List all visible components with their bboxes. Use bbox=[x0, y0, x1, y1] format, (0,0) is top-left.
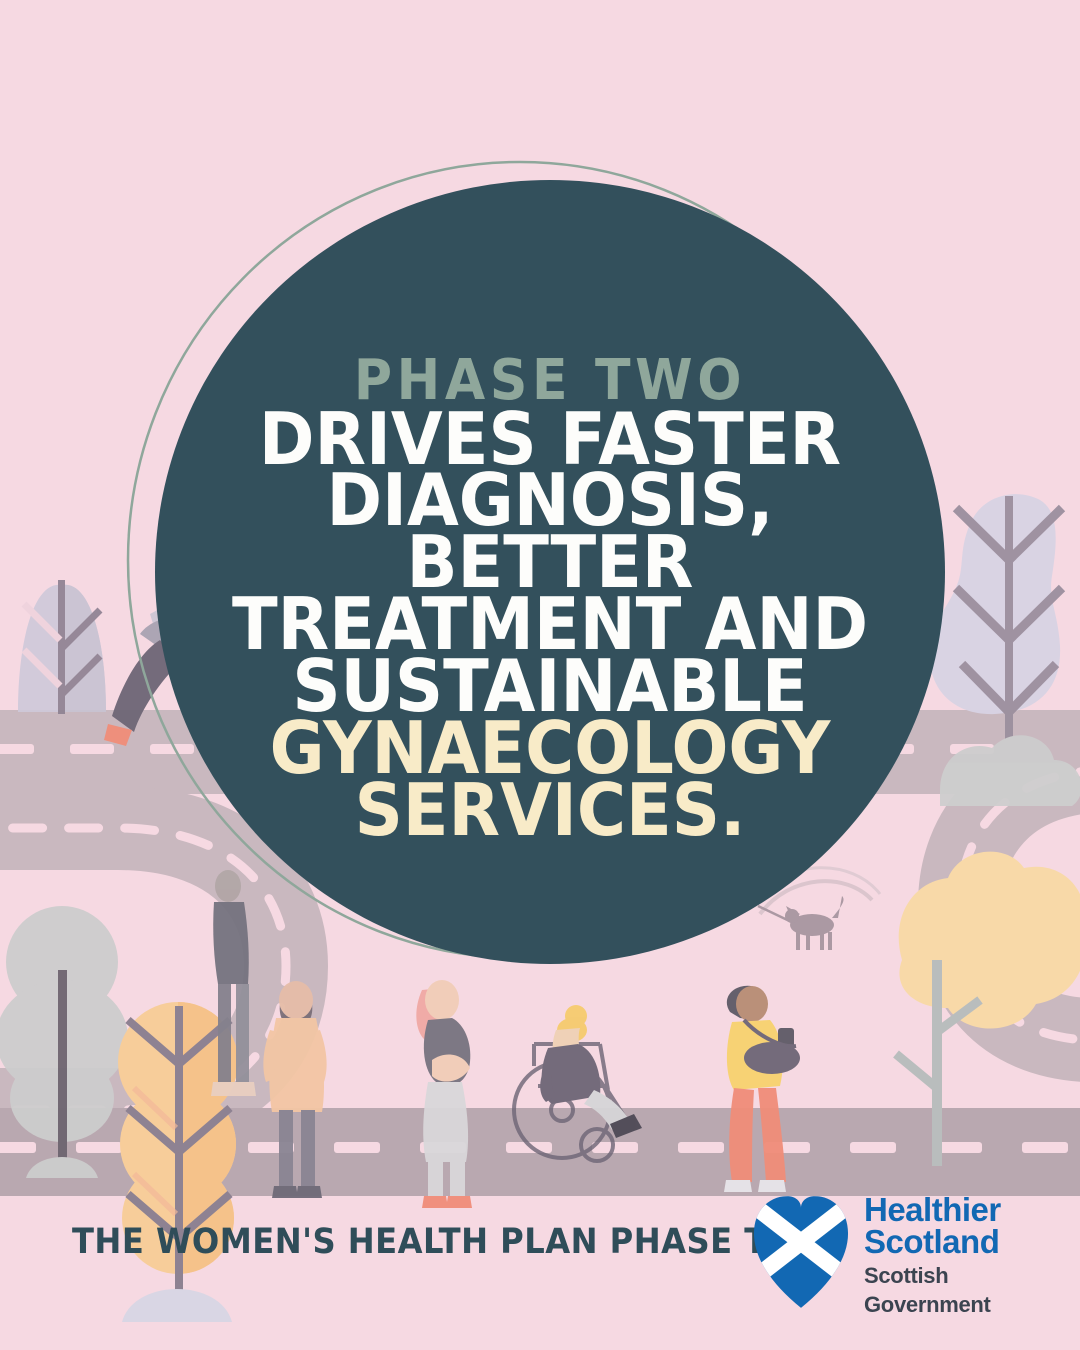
saltire-heart-icon bbox=[752, 1192, 850, 1310]
poster-canvas: PHASE TWO DRIVES FASTER DIAGNOSIS, BETTE… bbox=[0, 0, 1080, 1350]
headline-line-2: DIAGNOSIS, BETTER bbox=[178, 470, 922, 594]
headline-line-6: SERVICES. bbox=[178, 780, 922, 842]
logo-line-scottish: Scottish bbox=[864, 1265, 1001, 1288]
footer-strapline: THE WOMEN'S HEALTH PLAN PHASE TWO bbox=[72, 1222, 831, 1262]
logo-line-healthier: Healthier bbox=[864, 1194, 1001, 1226]
logo-wordmark: Healthier Scotland Scottish Government bbox=[864, 1190, 1001, 1316]
logo-line-scotland: Scotland bbox=[864, 1226, 1001, 1258]
headline-block: PHASE TWO DRIVES FASTER DIAGNOSIS, BETTE… bbox=[150, 355, 950, 842]
logo-line-government: Government bbox=[864, 1294, 1001, 1317]
healthier-scotland-logo: Healthier Scotland Scottish Government bbox=[752, 1190, 1024, 1318]
